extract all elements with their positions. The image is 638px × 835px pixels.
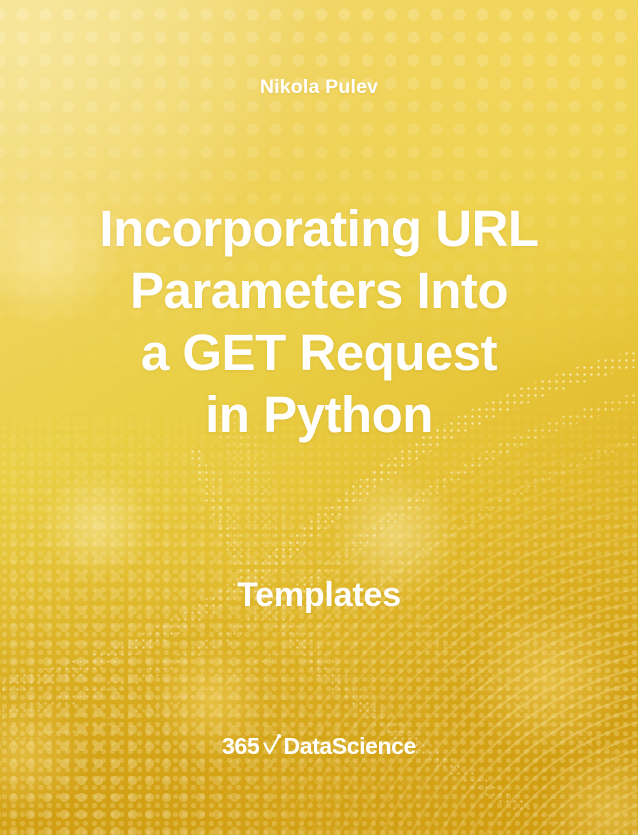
checkmark-dot-icon xyxy=(262,733,282,757)
logo-wordmark: DataScience xyxy=(284,735,416,758)
author-name: Nikola Pulev xyxy=(0,76,638,99)
title-line: Incorporating URL xyxy=(0,198,638,260)
title-line: in Python xyxy=(0,384,638,446)
cover-page: Nikola Pulev Incorporating URL Parameter… xyxy=(0,0,638,835)
logo-number: 365 xyxy=(222,735,259,758)
title-line: Parameters Into xyxy=(0,260,638,322)
page-title: Incorporating URL Parameters Into a GET … xyxy=(0,198,638,446)
title-line: a GET Request xyxy=(0,322,638,384)
page-subtitle: Templates xyxy=(0,576,638,615)
brand-logo: 365 DataScience xyxy=(0,733,638,760)
cover-content: Nikola Pulev Incorporating URL Parameter… xyxy=(0,0,638,835)
